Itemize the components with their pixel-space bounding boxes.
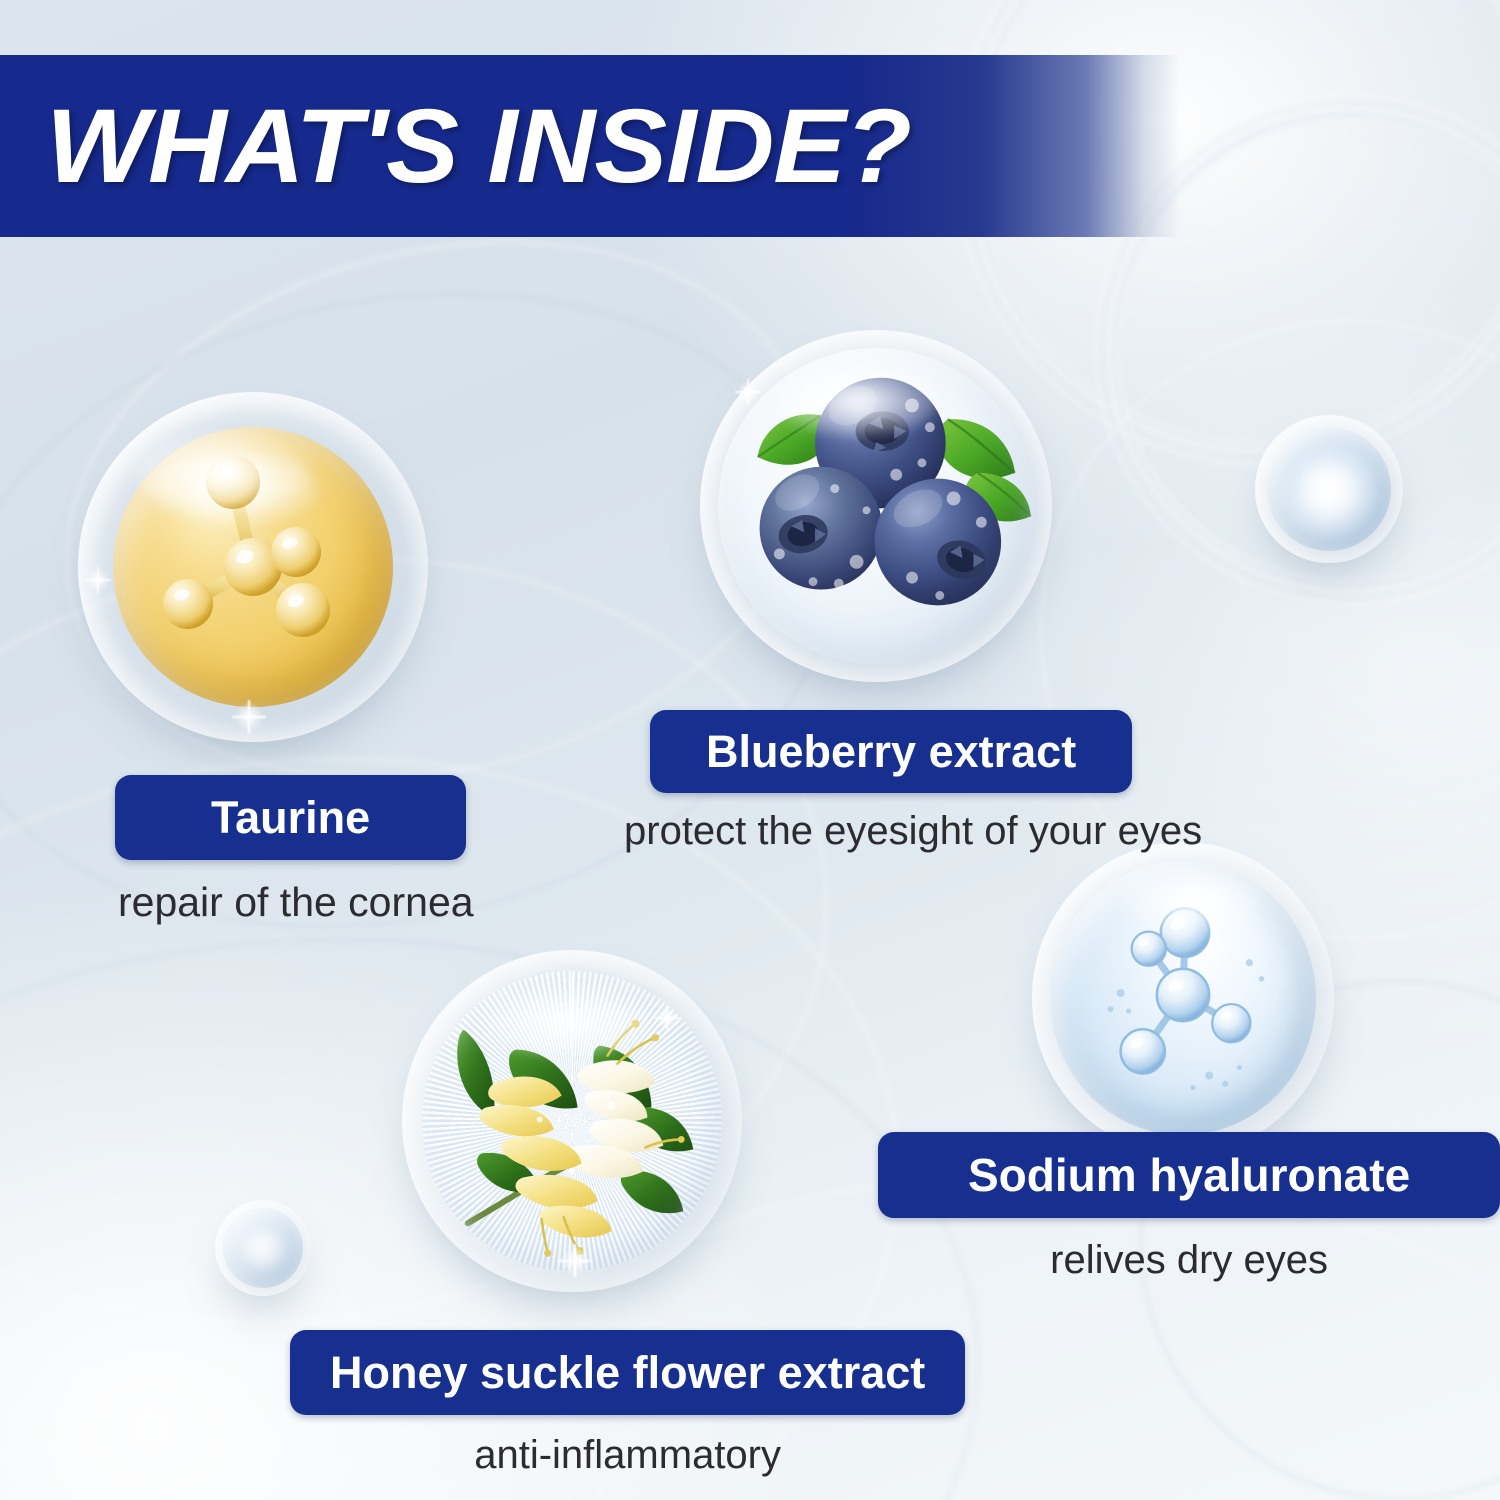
ingredient-label-taurine: Taurine repair of the cornea — [115, 775, 474, 925]
ingredient-benefit-caption: protect the eyesight of your eyes — [624, 809, 1202, 853]
ingredient-label-blueberry-extract: Blueberry extract protect the eyesight o… — [650, 710, 1202, 853]
page-title: WHAT'S INSIDE? — [46, 94, 911, 199]
decorative-water-droplet-1 — [1255, 415, 1403, 563]
blueberry-droplet-image — [700, 330, 1052, 682]
ingredient-benefit-caption: repair of the cornea — [115, 880, 474, 925]
ingredient-label-sodium-hyaluronate: Sodium hyaluronate relives dry eyes — [878, 1132, 1500, 1282]
sodium-hyaluronate-droplet-image — [1032, 842, 1334, 1154]
ingredient-label-honey-suckle-flower-extract: Honey suckle flower extract anti-inflamm… — [290, 1330, 965, 1477]
ingredient-name-badge: Sodium hyaluronate — [878, 1132, 1500, 1218]
taurine-droplet-image — [78, 392, 428, 742]
ingredient-name-badge: Taurine — [115, 775, 466, 860]
ingredient-name-badge: Blueberry extract — [650, 710, 1132, 793]
ingredient-benefit-caption: anti-inflammatory — [290, 1433, 965, 1477]
ingredients-infographic: WHAT'S INSIDE? — [0, 0, 1500, 1500]
decorative-water-droplet-2 — [215, 1200, 311, 1296]
honeysuckle-droplet-image — [402, 950, 742, 1292]
header-banner: WHAT'S INSIDE? — [0, 55, 1180, 237]
ingredient-name-badge: Honey suckle flower extract — [290, 1330, 965, 1415]
ingredient-benefit-caption: relives dry eyes — [878, 1238, 1500, 1282]
